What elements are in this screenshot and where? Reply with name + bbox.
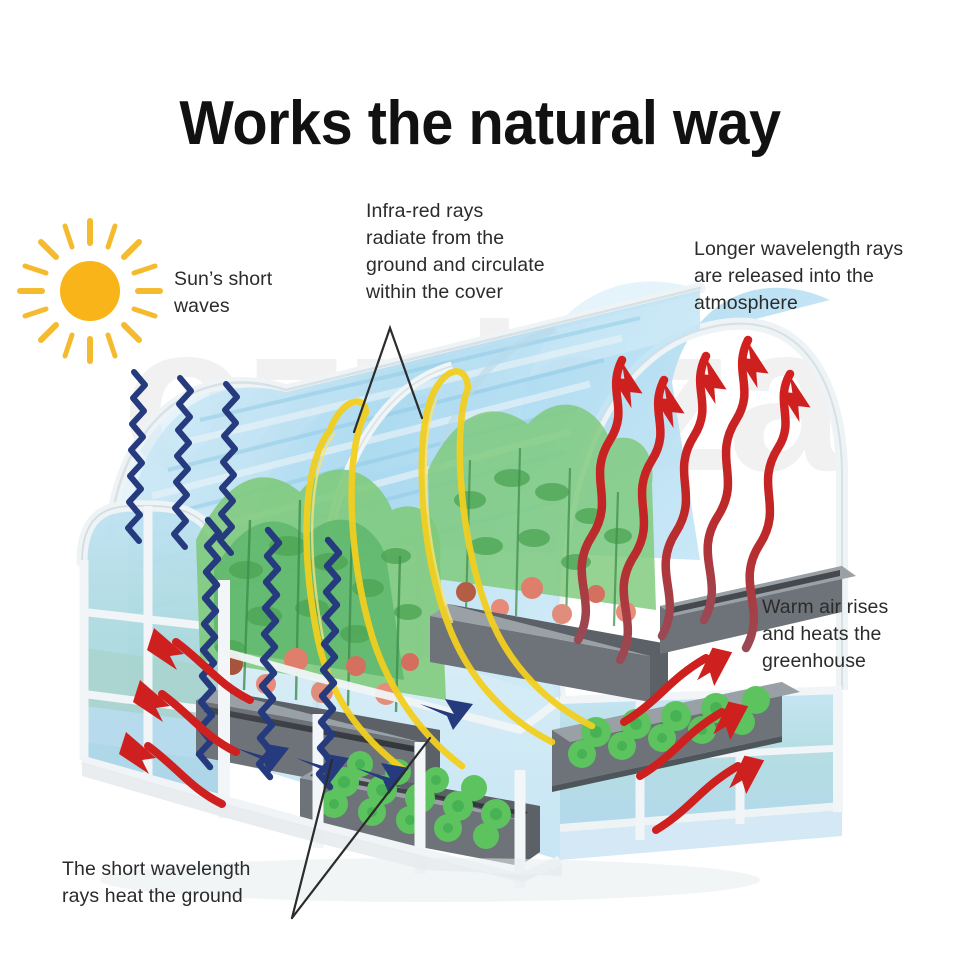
label-longer-wavelength: Longer wavelength rays are released into… <box>694 236 903 317</box>
label-infrared-rays: Infra-red rays radiate from the ground a… <box>366 198 545 306</box>
label-warm-air-rises: Warm air rises and heats the greenhouse <box>762 594 888 675</box>
label-sun-short-waves: Sun’s short waves <box>174 266 272 320</box>
page-title: Works the natural way <box>34 92 927 156</box>
sun-icon <box>20 221 160 361</box>
infographic-canvas: ozplaza <box>0 0 960 960</box>
label-short-wavelength-ground: The short wavelength rays heat the groun… <box>62 856 250 910</box>
